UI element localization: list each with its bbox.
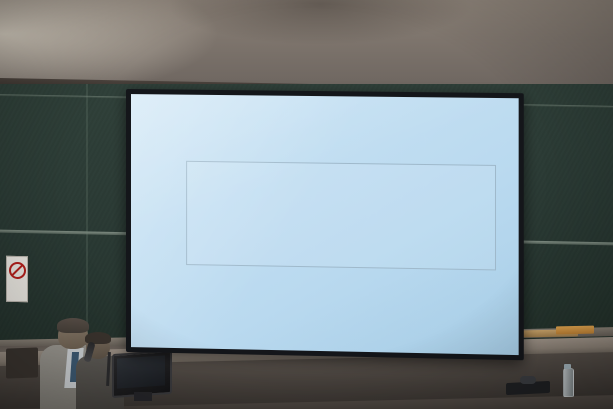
chair xyxy=(6,347,38,378)
water-bottle-cap xyxy=(564,364,571,369)
podium-monitor-screen xyxy=(117,355,165,388)
copyright-notice xyxy=(131,330,519,338)
stacked-bar-chart xyxy=(155,160,504,284)
chart-plot-area xyxy=(186,161,496,271)
chalkboard-seam-left xyxy=(86,84,88,352)
speaker-hair xyxy=(57,318,89,333)
ceiling-shadow xyxy=(170,0,470,44)
organization-logo xyxy=(143,107,183,130)
projection-screen-frame xyxy=(126,89,524,360)
slide-title xyxy=(131,112,519,116)
y-axis xyxy=(155,160,185,265)
podium-monitor-stand xyxy=(134,392,152,401)
chalk-tray-right xyxy=(556,326,594,335)
chart-legend xyxy=(131,296,519,303)
water-bottle xyxy=(563,368,574,397)
chart-bars xyxy=(187,162,495,270)
slide-subtitle xyxy=(131,141,519,146)
presentation-slide xyxy=(131,94,519,355)
no-smoking-icon xyxy=(9,262,26,279)
desk-object-small xyxy=(520,376,536,384)
no-smoking-sign xyxy=(6,256,28,302)
